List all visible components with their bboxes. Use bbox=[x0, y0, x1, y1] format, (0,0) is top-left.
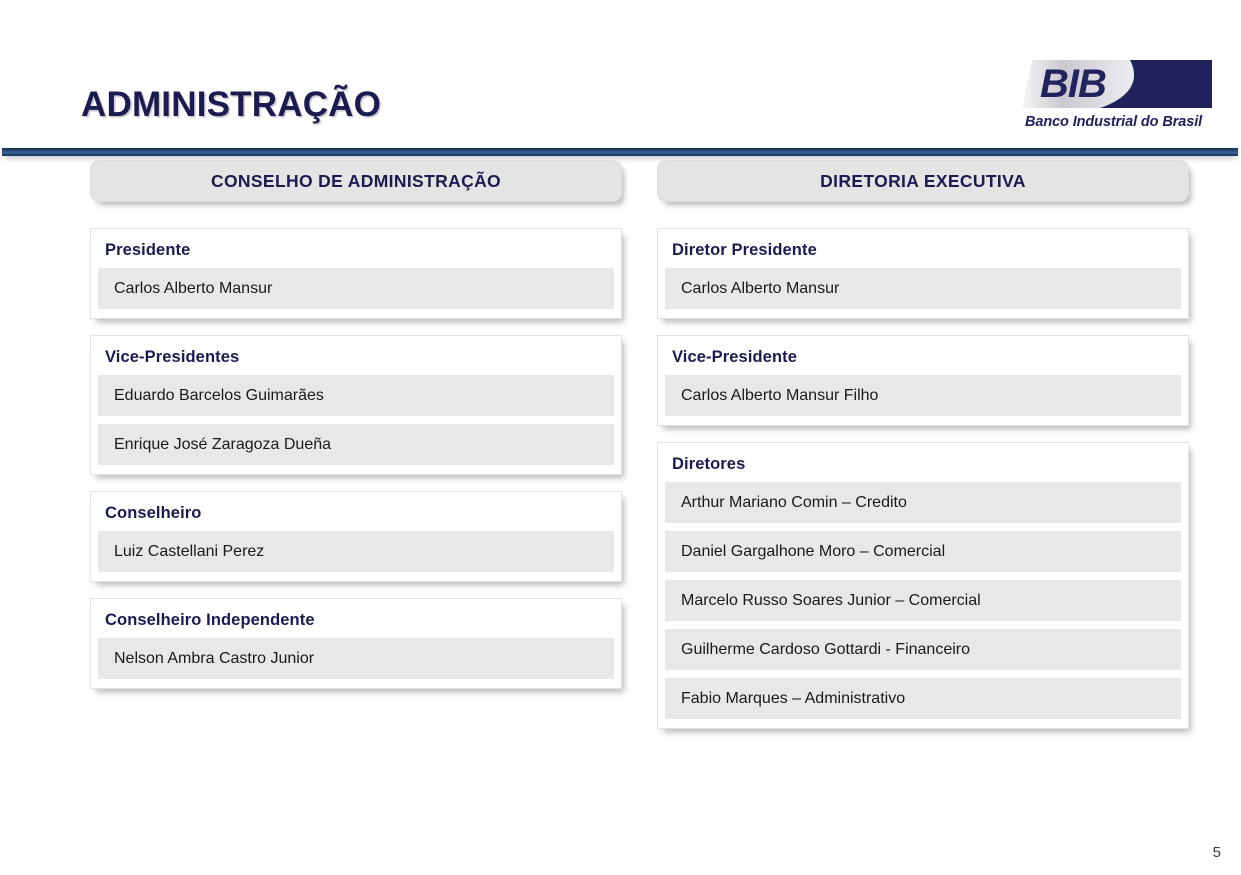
group-card-presidente: Presidente Carlos Alberto Mansur bbox=[90, 228, 622, 319]
member-row: Arthur Mariano Comin – Credito bbox=[665, 482, 1181, 523]
group-title: Vice-Presidentes bbox=[98, 346, 614, 375]
bib-logo-text: BIB bbox=[1040, 59, 1106, 109]
member-row: Eduardo Barcelos Guimarães bbox=[98, 375, 614, 416]
page-title: ADMINISTRAÇÃO bbox=[81, 85, 381, 125]
column-header-label: CONSELHO DE ADMINISTRAÇÃO bbox=[211, 171, 501, 192]
slide-header: ADMINISTRAÇÃO BIB Banco Industrial do Br… bbox=[0, 0, 1241, 160]
member-row: Carlos Alberto Mansur bbox=[98, 268, 614, 309]
page-number: 5 bbox=[1213, 844, 1221, 861]
member-row: Guilherme Cardoso Gottardi - Financeiro bbox=[665, 629, 1181, 670]
bib-logo-tagline: Banco Industrial do Brasil bbox=[1025, 114, 1202, 130]
member-row: Carlos Alberto Mansur Filho bbox=[665, 375, 1181, 416]
member-row: Daniel Gargalhone Moro – Comercial bbox=[665, 531, 1181, 572]
group-title: Diretores bbox=[665, 453, 1181, 482]
group-card-conselheiro: Conselheiro Luiz Castellani Perez bbox=[90, 491, 622, 582]
group-card-diretores: Diretores Arthur Mariano Comin – Credito… bbox=[657, 442, 1189, 729]
group-title: Vice-Presidente bbox=[665, 346, 1181, 375]
member-row: Luiz Castellani Perez bbox=[98, 531, 614, 572]
column-header-label: DIRETORIA EXECUTIVA bbox=[820, 171, 1026, 192]
group-title: Diretor Presidente bbox=[665, 239, 1181, 268]
group-card-diretor-presidente: Diretor Presidente Carlos Alberto Mansur bbox=[657, 228, 1189, 319]
member-row: Enrique José Zaragoza Dueña bbox=[98, 424, 614, 465]
group-card-vice-presidente: Vice-Presidente Carlos Alberto Mansur Fi… bbox=[657, 335, 1189, 426]
group-title: Presidente bbox=[98, 239, 614, 268]
column-conselho-de-administracao: CONSELHO DE ADMINISTRAÇÃO Presidente Car… bbox=[90, 160, 622, 705]
group-title: Conselheiro Independente bbox=[98, 609, 614, 638]
member-row: Nelson Ambra Castro Junior bbox=[98, 638, 614, 679]
group-card-vice-presidentes: Vice-Presidentes Eduardo Barcelos Guimar… bbox=[90, 335, 622, 475]
bib-logo-mark: BIB bbox=[1022, 57, 1212, 111]
member-row: Fabio Marques – Administrativo bbox=[665, 678, 1181, 719]
column-header-diretoria: DIRETORIA EXECUTIVA bbox=[657, 160, 1189, 202]
member-row: Marcelo Russo Soares Junior – Comercial bbox=[665, 580, 1181, 621]
member-row: Carlos Alberto Mansur bbox=[665, 268, 1181, 309]
slide-content: CONSELHO DE ADMINISTRAÇÃO Presidente Car… bbox=[0, 160, 1241, 820]
group-title: Conselheiro bbox=[98, 502, 614, 531]
bib-logo: BIB Banco Industrial do Brasil bbox=[1022, 57, 1212, 137]
column-header-conselho: CONSELHO DE ADMINISTRAÇÃO bbox=[90, 160, 622, 202]
header-divider bbox=[2, 148, 1238, 156]
column-diretoria-executiva: DIRETORIA EXECUTIVA Diretor Presidente C… bbox=[657, 160, 1189, 745]
group-card-conselheiro-independente: Conselheiro Independente Nelson Ambra Ca… bbox=[90, 598, 622, 689]
